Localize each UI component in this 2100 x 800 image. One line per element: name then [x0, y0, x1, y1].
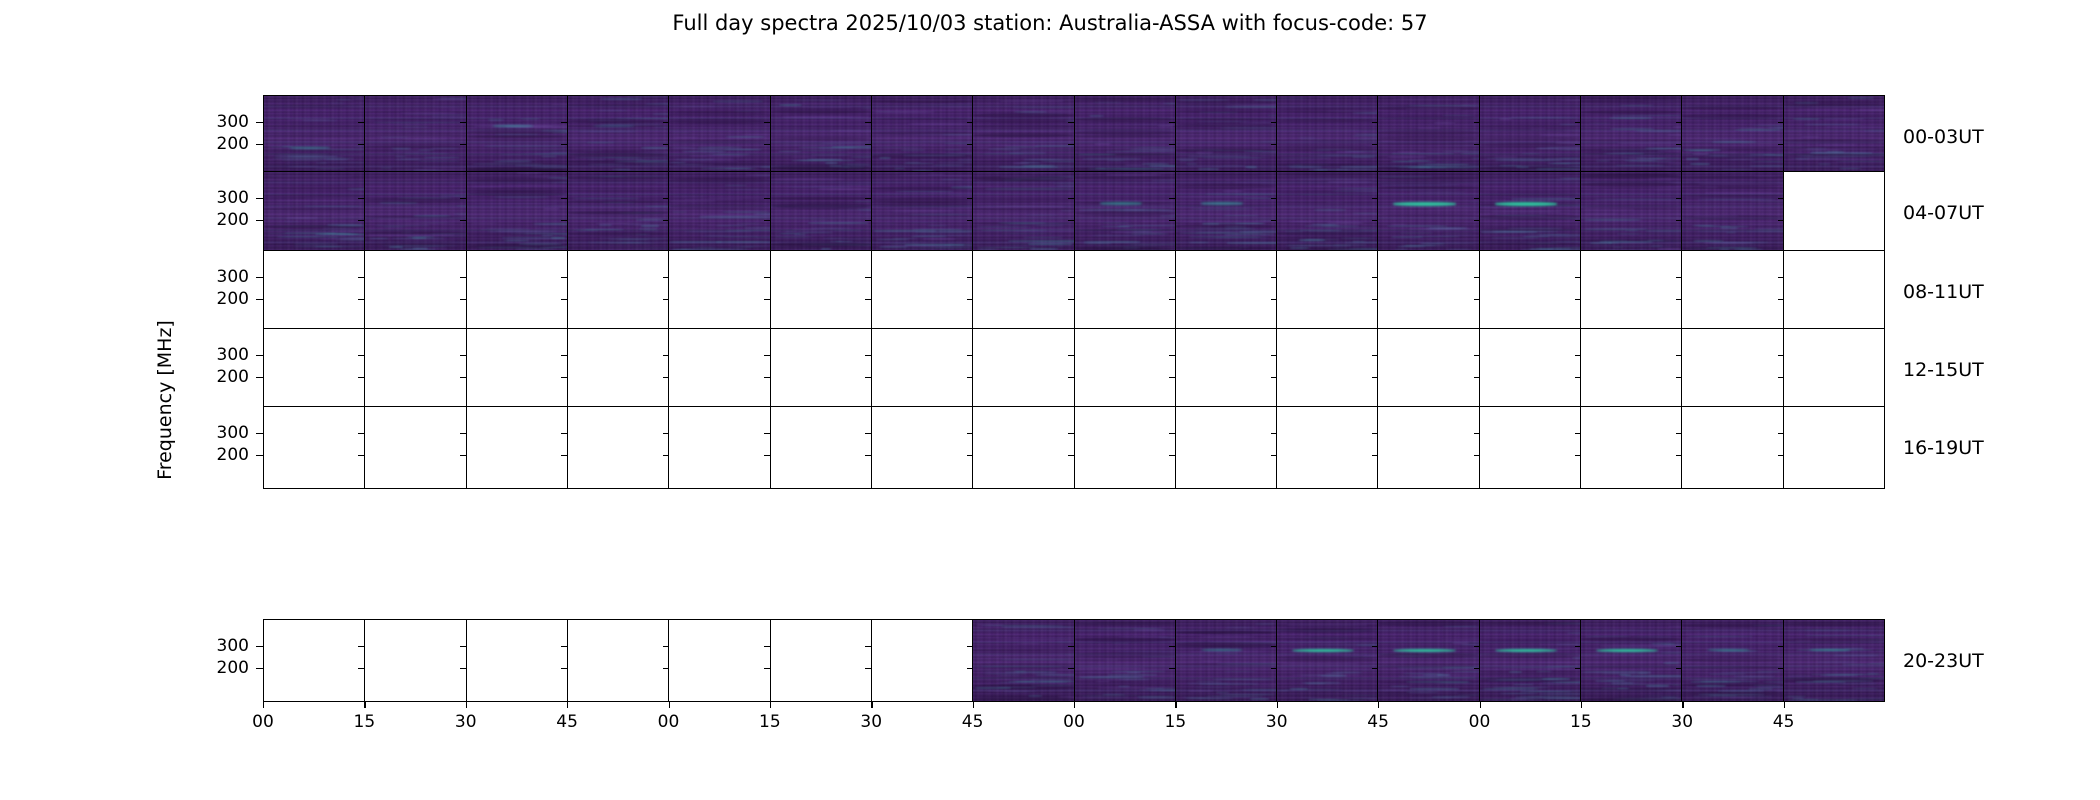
noise-band — [1480, 192, 1580, 197]
noise-band — [771, 197, 871, 200]
panel-inner-tick — [1575, 220, 1581, 221]
noise-streak — [1791, 142, 1867, 144]
noise-streak-low — [1839, 168, 1861, 170]
noise-streak — [264, 109, 336, 110]
noise-streak — [1331, 190, 1378, 192]
panel-inner-tick — [1676, 646, 1682, 647]
noise-streak-low — [641, 225, 659, 226]
noise-streak-low — [401, 232, 414, 233]
noise-streak — [853, 201, 872, 202]
noise-streak-low — [1638, 672, 1651, 673]
noise-streak-low — [1522, 153, 1540, 154]
noise-streak-low — [315, 246, 342, 247]
noise-streak-low — [399, 248, 429, 249]
noise-streak — [1648, 200, 1682, 201]
noise-streak — [1313, 140, 1375, 141]
noise-streak — [1391, 166, 1480, 167]
noise-streak — [1559, 157, 1581, 159]
noise-streak — [367, 234, 454, 236]
noise-band — [1682, 162, 1782, 164]
noise-band — [872, 118, 972, 120]
noise-streak — [403, 114, 467, 115]
spectrogram-panel-empty — [1075, 251, 1176, 332]
noise-band — [365, 217, 465, 219]
noise-streak — [1661, 697, 1677, 698]
noise-streak — [875, 242, 905, 244]
noise-streak — [721, 138, 753, 139]
noise-streak — [1754, 176, 1776, 177]
noise-streak-low — [1391, 236, 1423, 238]
noise-streak — [830, 130, 862, 132]
spectrogram-panel — [1075, 96, 1176, 177]
panel-inner-tick — [561, 122, 567, 123]
noise-streak-low — [1129, 149, 1176, 150]
panel-inner-tick — [764, 299, 770, 300]
noise-streak — [505, 125, 568, 127]
noise-streak — [1612, 115, 1682, 116]
y-axis-tick — [256, 277, 263, 278]
noise-streak-low — [1286, 245, 1352, 246]
noise-streak — [453, 190, 467, 192]
noise-streak-low — [1408, 167, 1431, 168]
noise-streak — [588, 242, 651, 243]
noise-streak — [1586, 636, 1631, 637]
panel-inner-tick — [764, 355, 770, 356]
noise-streak — [1737, 223, 1784, 224]
noise-streak-low — [278, 154, 329, 155]
noise-streak-low — [1242, 689, 1277, 690]
noise-streak — [546, 205, 568, 207]
spectrogram-image — [568, 96, 668, 177]
noise-streak-low — [476, 247, 538, 248]
noise-streak-low — [622, 224, 670, 225]
noise-streak — [1154, 168, 1176, 169]
noise-streak — [1155, 161, 1176, 163]
noise-streak-low — [1031, 685, 1075, 686]
noise-streak — [1336, 151, 1365, 153]
noise-streak-low — [515, 165, 568, 166]
noise-streak-low — [1392, 161, 1437, 162]
noise-band — [1075, 135, 1175, 138]
spectrogram-row — [263, 406, 1885, 489]
spectrogram-panel-empty — [1378, 251, 1479, 332]
noise-streak-low — [1198, 168, 1219, 169]
panel-inner-tick — [1271, 220, 1277, 221]
noise-streak — [1651, 187, 1682, 189]
noise-band — [1378, 143, 1478, 145]
noise-streak — [1007, 142, 1074, 143]
noise-streak — [294, 246, 365, 247]
panel-inner-tick — [663, 433, 669, 434]
noise-streak-low — [1398, 167, 1433, 168]
noise-streak-low — [1486, 158, 1544, 160]
noise-streak — [400, 112, 456, 114]
noise-streak — [976, 226, 1032, 228]
spectrogram-panel — [1581, 620, 1682, 701]
panel-inner-tick — [1575, 433, 1581, 434]
panel-inner-tick — [1372, 668, 1378, 669]
noise-streak — [621, 234, 648, 235]
noise-streak — [352, 98, 365, 99]
noise-streak-low — [1020, 162, 1042, 163]
panel-inner-tick — [1474, 198, 1480, 199]
noise-streak-low — [1722, 681, 1759, 682]
noise-streak — [1601, 688, 1631, 689]
noise-streak-low — [799, 160, 833, 161]
noise-streak-low — [277, 236, 338, 238]
noise-streak-low — [1598, 240, 1629, 241]
noise-streak — [1601, 629, 1640, 630]
noise-streak — [1826, 126, 1884, 127]
panel-inner-tick — [764, 198, 770, 199]
noise-streak — [1064, 654, 1075, 655]
panel-inner-tick — [1575, 455, 1581, 456]
noise-streak — [543, 208, 560, 210]
noise-streak — [792, 229, 822, 230]
noise-streak-low — [1613, 247, 1624, 248]
noise-band — [1378, 621, 1478, 626]
noise-streak — [1112, 643, 1129, 644]
spectrogram-panel-empty — [1784, 329, 1884, 410]
noise-streak — [1030, 222, 1060, 223]
noise-streak — [547, 234, 568, 235]
noise-streak-low — [1509, 671, 1522, 673]
spectrogram-panel-empty — [365, 407, 466, 488]
noise-streak — [353, 102, 365, 103]
noise-band — [467, 135, 567, 138]
noise-streak — [1340, 656, 1376, 658]
noise-streak — [1254, 99, 1277, 100]
noise-streak — [348, 244, 366, 245]
panel-inner-tick — [1676, 122, 1682, 123]
noise-band — [365, 111, 465, 113]
noise-streak — [1763, 681, 1784, 683]
noise-streak — [431, 115, 466, 117]
noise-band — [973, 119, 1073, 123]
noise-streak — [273, 158, 354, 159]
panel-inner-tick — [1778, 198, 1784, 199]
noise-streak-low — [264, 233, 292, 234]
noise-band — [1682, 106, 1782, 110]
x-axis-tick-label: 00 — [1469, 712, 1491, 732]
noise-streak — [940, 106, 973, 108]
noise-streak — [1318, 700, 1364, 701]
panel-inner-tick — [1575, 144, 1581, 145]
noise-streak — [976, 624, 1006, 626]
noise-streak — [1408, 228, 1462, 230]
noise-streak-low — [1297, 240, 1328, 241]
panel-strip — [264, 172, 1884, 253]
noise-streak — [802, 244, 870, 245]
noise-streak-low — [473, 163, 542, 165]
noise-streak — [1415, 214, 1480, 215]
noise-streak — [1718, 686, 1783, 687]
noise-streak-low — [1700, 681, 1727, 682]
noise-streak — [631, 99, 670, 100]
y-axis-tick-label: 200 — [203, 210, 249, 230]
noise-streak — [1552, 681, 1581, 683]
noise-streak-low — [911, 236, 947, 237]
noise-streak-low — [391, 148, 411, 150]
spectrogram-image — [872, 96, 972, 177]
panel-inner-tick — [1372, 198, 1378, 199]
noise-streak — [1017, 643, 1041, 644]
noise-streak — [895, 191, 954, 192]
noise-streak — [1008, 240, 1075, 241]
noise-streak-low — [1542, 678, 1569, 680]
noise-streak — [379, 158, 467, 159]
noise-streak — [726, 136, 764, 138]
noise-streak — [751, 115, 766, 116]
noise-band — [467, 130, 567, 135]
panel-inner-tick — [967, 455, 973, 456]
noise-band — [1480, 203, 1580, 207]
noise-streak — [1308, 155, 1378, 157]
noise-streak — [812, 185, 872, 187]
panel-inner-tick — [967, 377, 973, 378]
noise-streak-low — [541, 235, 554, 236]
noise-streak — [471, 163, 508, 164]
noise-streak-low — [730, 246, 753, 248]
noise-streak-low — [400, 158, 450, 159]
panel-inner-tick — [967, 144, 973, 145]
noise-band — [1682, 195, 1782, 197]
panel-inner-tick — [865, 299, 871, 300]
panel-inner-tick — [1372, 220, 1378, 221]
noise-streak-low — [618, 239, 664, 241]
noise-streak-low — [1289, 166, 1322, 168]
noise-streak — [1823, 118, 1863, 120]
panel-inner-tick — [764, 377, 770, 378]
emission-streak — [289, 147, 331, 149]
noise-streak-low — [1196, 681, 1222, 682]
y-axis-tick-label: 200 — [203, 445, 249, 465]
noise-band — [1075, 637, 1175, 642]
spectrogram-image — [1075, 172, 1175, 253]
noise-streak — [1416, 201, 1479, 202]
page-title: Full day spectra 2025/10/03 station: Aus… — [0, 11, 2100, 35]
noise-band — [1581, 151, 1681, 155]
y-axis-tick — [256, 144, 263, 145]
noise-streak-low — [1352, 156, 1375, 158]
noise-band — [771, 203, 871, 208]
spectrogram-panel-empty — [1075, 329, 1176, 410]
noise-streak — [1337, 188, 1378, 189]
spectrogram-panel-empty — [264, 329, 365, 410]
noise-streak — [810, 219, 828, 221]
noise-streak-low — [1009, 152, 1046, 153]
noise-streak-low — [634, 162, 670, 163]
noise-streak — [1464, 222, 1479, 223]
noise-streak-low — [778, 151, 802, 153]
noise-band — [872, 168, 972, 170]
noise-streak — [654, 126, 670, 127]
noise-streak — [1716, 650, 1758, 652]
noise-streak-low — [575, 157, 641, 158]
panel-inner-tick — [1778, 377, 1784, 378]
noise-streak — [981, 666, 1062, 668]
noise-streak — [1224, 97, 1278, 98]
noise-streak — [1041, 674, 1074, 676]
noise-streak — [636, 219, 664, 221]
noise-band — [1581, 205, 1681, 209]
noise-streak-low — [905, 162, 921, 163]
noise-band — [1480, 214, 1580, 219]
noise-streak — [1703, 242, 1753, 244]
noise-streak-low — [581, 229, 620, 230]
panel-inner-tick — [663, 646, 669, 647]
noise-streak-low — [1203, 150, 1264, 151]
noise-streak — [742, 134, 771, 135]
noise-band — [365, 198, 465, 203]
noise-streak-low — [1547, 163, 1582, 164]
noise-streak-low — [284, 236, 327, 237]
noise-band — [1784, 679, 1884, 683]
noise-streak — [1613, 698, 1682, 700]
noise-streak — [1416, 141, 1428, 142]
noise-streak — [1493, 168, 1534, 169]
noise-streak — [725, 230, 771, 232]
noise-streak — [1752, 125, 1784, 126]
noise-streak — [1201, 660, 1220, 662]
noise-band — [973, 684, 1073, 689]
noise-streak — [1466, 621, 1480, 622]
noise-streak-low — [287, 156, 338, 157]
noise-streak — [1617, 142, 1682, 144]
noise-streak — [1804, 124, 1861, 126]
noise-band — [1176, 148, 1276, 153]
noise-streak-low — [499, 240, 541, 241]
noise-streak-low — [1099, 168, 1165, 169]
noise-streak-low — [1756, 687, 1783, 688]
noise-streak-low — [1336, 169, 1379, 170]
noise-streak — [1818, 144, 1857, 146]
noise-streak-low — [1194, 687, 1233, 688]
panel-inner-tick — [967, 433, 973, 434]
noise-streak-low — [712, 154, 750, 155]
spectrogram-image — [1682, 96, 1782, 177]
noise-streak — [1021, 111, 1075, 112]
noise-band — [467, 179, 567, 182]
noise-streak-low — [1710, 244, 1760, 245]
panel-inner-tick — [1271, 355, 1277, 356]
noise-streak — [951, 186, 973, 188]
noise-streak — [1151, 180, 1176, 181]
noise-band — [1480, 622, 1580, 625]
noise-streak — [1699, 139, 1745, 140]
noise-streak — [858, 182, 872, 183]
noise-streak — [1460, 153, 1479, 154]
noise-band — [568, 212, 668, 214]
noise-streak — [1549, 247, 1581, 249]
noise-streak-low — [879, 246, 908, 248]
noise-band — [1682, 182, 1782, 187]
panel-inner-tick — [1271, 377, 1277, 378]
noise-streak — [1683, 121, 1758, 122]
panel-inner-tick — [460, 355, 466, 356]
spectrogram-panel-empty — [264, 407, 365, 488]
noise-streak — [1567, 632, 1581, 634]
panel-inner-tick — [663, 455, 669, 456]
noise-streak-low — [614, 161, 669, 162]
noise-band — [1176, 642, 1276, 647]
noise-streak-low — [418, 160, 460, 162]
noise-streak — [1654, 189, 1683, 190]
noise-streak-low — [395, 246, 446, 247]
noise-streak — [418, 236, 467, 237]
noise-streak — [439, 195, 461, 197]
spectrogram-panel-empty — [872, 407, 973, 488]
panel-inner-tick — [1271, 455, 1277, 456]
panel-inner-tick — [1372, 455, 1378, 456]
noise-band — [973, 676, 1073, 678]
noise-streak — [336, 99, 351, 100]
noise-streak — [1129, 201, 1176, 202]
noise-streak-low — [1202, 157, 1261, 159]
noise-streak — [1712, 141, 1756, 143]
x-axis-tick — [973, 702, 974, 708]
noise-streak — [1798, 109, 1851, 110]
noise-streak — [587, 247, 670, 248]
noise-streak — [843, 238, 872, 240]
spectrogram-image — [872, 172, 972, 253]
noise-streak-low — [1345, 151, 1378, 152]
noise-streak — [1397, 667, 1476, 668]
noise-band — [1378, 116, 1478, 118]
noise-streak-low — [810, 228, 851, 229]
noise-streak-low — [1795, 681, 1846, 683]
noise-band — [1378, 664, 1478, 668]
spectrogram-panel-empty — [1378, 329, 1479, 410]
noise-streak — [889, 244, 973, 245]
panel-inner-tick — [967, 220, 973, 221]
noise-streak — [498, 149, 568, 150]
noise-streak — [1158, 637, 1176, 638]
noise-streak-low — [1390, 686, 1410, 687]
noise-streak-low — [1525, 169, 1554, 170]
spectrogram-panel-empty — [872, 329, 973, 410]
noise-band — [264, 176, 364, 178]
spectrogram-panel-empty — [973, 251, 1074, 332]
noise-streak-low — [934, 247, 973, 248]
noise-streak-low — [797, 159, 843, 160]
panel-inner-tick — [663, 277, 669, 278]
noise-streak-low — [1117, 229, 1161, 230]
panel-strip — [264, 329, 1884, 410]
y-axis-tick-label: 200 — [203, 658, 249, 678]
noise-streak-low — [1646, 148, 1682, 149]
noise-band — [1378, 166, 1478, 171]
noise-streak — [890, 210, 954, 211]
spectrogram-panel-empty — [365, 251, 466, 332]
noise-band — [1581, 173, 1681, 176]
noise-band — [568, 160, 668, 163]
spectrogram-panel — [973, 620, 1074, 701]
noise-streak — [952, 136, 973, 138]
noise-streak-low — [424, 157, 460, 158]
noise-streak — [1135, 675, 1176, 676]
noise-streak-low — [800, 150, 848, 151]
noise-streak — [330, 153, 366, 155]
noise-streak — [1165, 124, 1176, 126]
noise-streak — [754, 237, 771, 238]
noise-streak — [872, 111, 935, 113]
spectrogram-image — [365, 172, 465, 253]
noise-streak-low — [1617, 688, 1629, 689]
noise-streak — [1303, 637, 1350, 639]
noise-band — [264, 105, 364, 108]
noise-band — [467, 136, 567, 141]
